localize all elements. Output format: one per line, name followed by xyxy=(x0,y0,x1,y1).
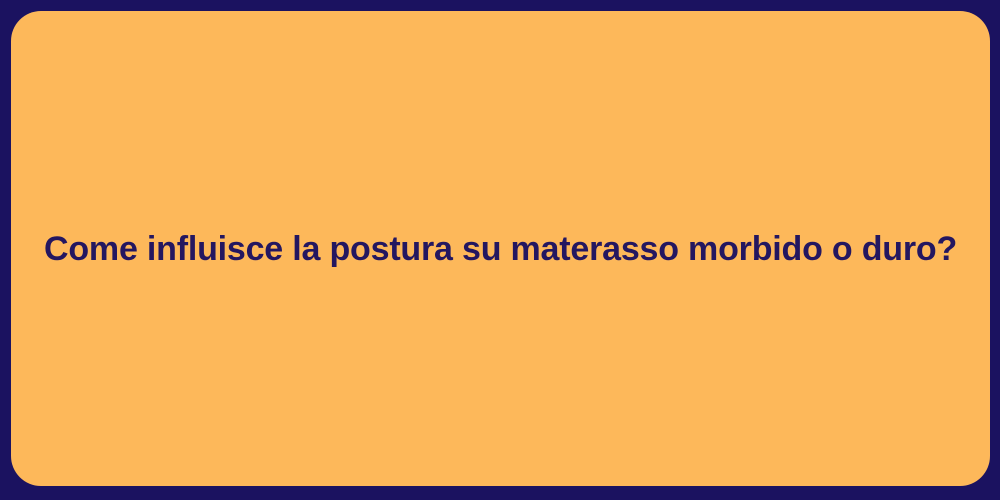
page-frame: Come influisce la postura su materasso m… xyxy=(0,0,1000,500)
hero-card: Come influisce la postura su materasso m… xyxy=(11,11,990,486)
headline-question: Come influisce la postura su materasso m… xyxy=(44,228,957,271)
